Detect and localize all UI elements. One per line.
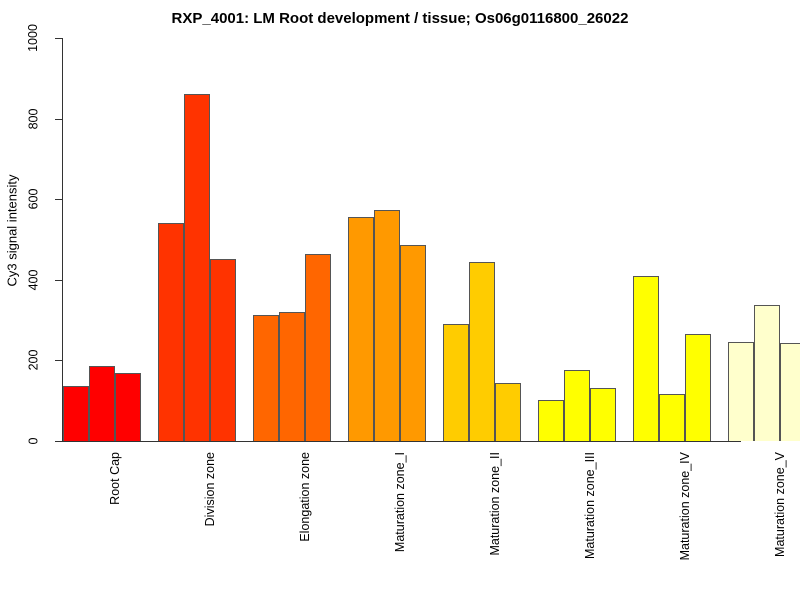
- x-axis-category-label: Maturation zone_V: [773, 452, 789, 602]
- bar: [348, 217, 374, 441]
- bar: [633, 276, 659, 441]
- bar: [400, 245, 426, 441]
- bar: [305, 254, 331, 441]
- bar-chart: RXP_4001: LM Root development / tissue; …: [0, 0, 800, 600]
- bar: [564, 370, 590, 441]
- bar: [685, 334, 711, 441]
- bar: [210, 259, 236, 441]
- bar: [495, 383, 521, 441]
- bar: [115, 373, 141, 441]
- bar: [158, 223, 184, 441]
- x-axis-category-label: Maturation zone_IV: [678, 452, 694, 602]
- bar: [63, 386, 89, 441]
- bar: [754, 305, 780, 441]
- x-axis-category-label: Maturation zone_III: [583, 452, 599, 602]
- bar: [279, 312, 305, 441]
- bar: [659, 394, 685, 441]
- bar: [780, 343, 800, 441]
- bar: [253, 315, 279, 441]
- bar: [590, 388, 616, 441]
- bar: [469, 262, 495, 441]
- x-axis-category-label: Root Cap: [108, 452, 124, 602]
- bar: [538, 400, 564, 441]
- x-axis-category-label: Maturation zone_I: [393, 452, 409, 602]
- x-axis-category-label: Maturation zone_II: [488, 452, 504, 602]
- bar: [443, 324, 469, 441]
- x-axis-category-label: Elongation zone: [298, 452, 314, 602]
- x-axis-category-label: Division zone: [203, 452, 219, 602]
- bar: [374, 210, 400, 441]
- bar: [89, 366, 115, 441]
- bar: [728, 342, 754, 441]
- bar: [184, 94, 210, 441]
